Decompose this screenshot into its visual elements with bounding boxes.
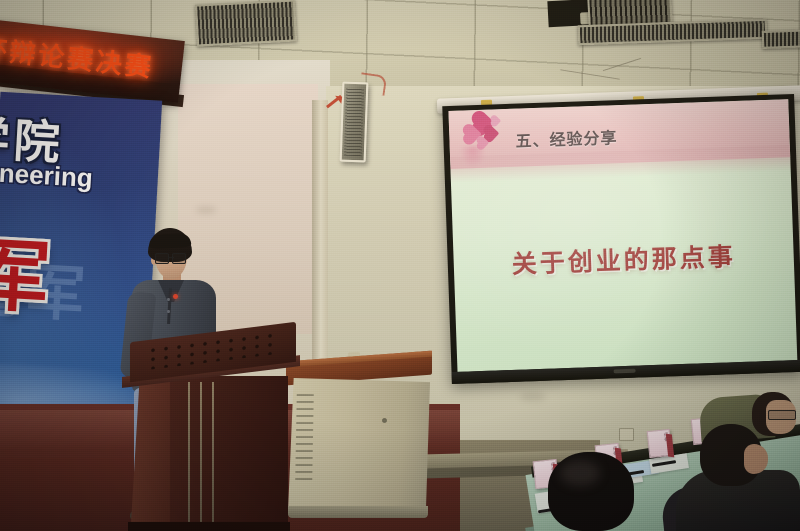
- hair-highlight: [560, 460, 600, 486]
- podium-trim-stripe: [188, 382, 190, 531]
- cabinet-lock-icon[interactable]: [382, 418, 387, 423]
- presenter-hair-fringe: [149, 233, 192, 249]
- hearts-reflection: [460, 146, 487, 169]
- equipment-cabinet: [286, 356, 432, 516]
- cabinet-base: [288, 506, 428, 518]
- shirt-button: [167, 310, 170, 313]
- slide-section-heading: 五、经验分享: [515, 124, 618, 152]
- glasses-lens: [155, 253, 169, 264]
- red-arrow-decal-icon: [323, 90, 346, 113]
- ceiling-air-vent: [762, 29, 800, 49]
- photo-scene: 杯辩论赛决赛 冠军 学院 ngineering 军 五、经验分享 关于创业: [0, 0, 800, 531]
- wall-mark: [196, 206, 216, 214]
- lectern-podium: [118, 332, 296, 531]
- glasses-icon: [155, 253, 186, 262]
- podium-trim-stripe: [212, 382, 214, 531]
- ceiling-air-vent: [195, 0, 297, 47]
- cabinet-vent-slots: [295, 394, 313, 480]
- heart-icon: [491, 116, 501, 126]
- banner-english-name: ngineering: [0, 156, 94, 194]
- microphone-icon: [173, 294, 178, 299]
- placard-side-panel: [666, 434, 675, 458]
- wall-mark: [520, 392, 546, 402]
- banner-champion-character: 军: [0, 213, 56, 329]
- podium-left-face: [128, 376, 170, 531]
- shirt-button: [167, 298, 170, 301]
- heart-icon: [485, 126, 499, 140]
- glasses-icon: [768, 410, 796, 420]
- slide-main-title: 关于创业的那点事: [453, 235, 794, 283]
- glasses-lens: [172, 253, 186, 264]
- slide-surface: 五、经验分享 关于创业的那点事: [448, 99, 797, 372]
- projection-screen: 五、经验分享 关于创业的那点事: [442, 94, 800, 384]
- podium-base: [128, 522, 290, 531]
- podium-trim-stripe: [200, 382, 202, 531]
